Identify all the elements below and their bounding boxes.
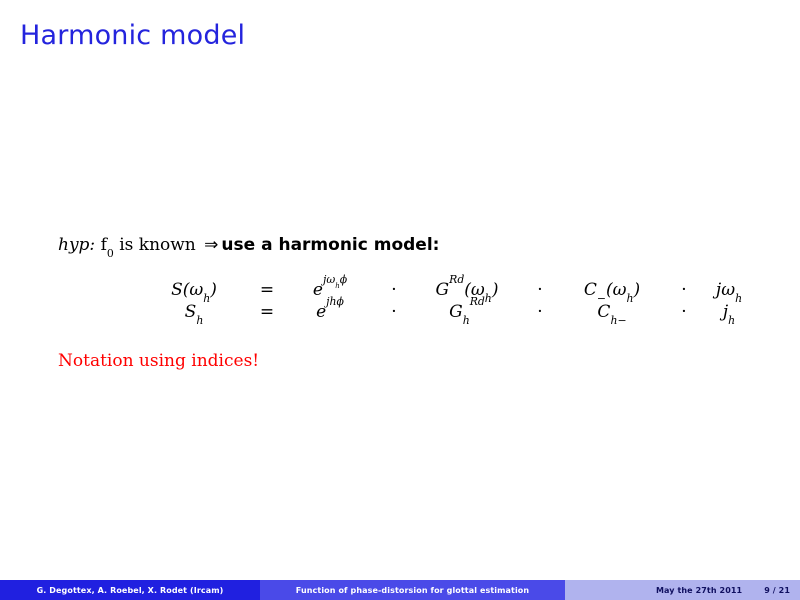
exp-sup-main: jω	[323, 273, 335, 286]
footer-presentation-title: Function of phase-distorsion for glottal…	[260, 580, 565, 600]
equation-lhs: S(ωh)	[148, 280, 250, 302]
footer-page-number: 9 / 21	[764, 586, 790, 595]
lhs-base: S	[171, 280, 183, 300]
g-superscript: Rd	[449, 273, 464, 286]
exp-superscript: jhϕ	[326, 295, 344, 308]
equation-block: S(ωh) = ejωhϕ · GRd(ωh) · C−(ωh) · jωh S…	[148, 280, 756, 324]
equation-row: Sh = ejhϕ · GhRd · Ch− · jh	[148, 302, 756, 324]
equation-relation: =	[250, 280, 284, 302]
lhs-arg-close: )	[210, 280, 217, 300]
c-base: C	[597, 302, 610, 322]
footer-meta: May the 27th 2011 9 / 21	[565, 580, 800, 600]
exp-base: e	[313, 280, 323, 300]
lhs-arg-open: (ω	[183, 280, 204, 300]
equation-table: S(ωh) = ejωhϕ · GRd(ωh) · C−(ωh) · jωh S…	[148, 280, 756, 324]
equation-g-term: GRd(ωh)	[412, 280, 522, 302]
lhs-subscript: h	[196, 314, 203, 327]
multiplication-dot: ·	[666, 302, 702, 324]
hypothesis-emphasis: use a harmonic model:	[221, 235, 439, 255]
exp-sup-subscript: h	[335, 282, 339, 290]
hypothesis-label: hyp:	[58, 235, 95, 255]
j-subscript: h	[735, 292, 742, 305]
g-arg-close: )	[492, 280, 499, 300]
c-arg-close: )	[634, 280, 641, 300]
exp-superscript: jωhϕ	[323, 273, 347, 286]
g-base: G	[449, 302, 463, 322]
exp-sup-phi: ϕ	[337, 295, 344, 308]
j-subscript: h	[728, 314, 735, 327]
equation-g-term: GhRd	[412, 302, 522, 324]
multiplication-dot: ·	[666, 280, 702, 302]
hypothesis-line: hyp: f0 is known ⇒use a harmonic model:	[58, 234, 439, 256]
hypothesis-middle-text: is known	[114, 235, 201, 255]
multiplication-dot: ·	[522, 302, 558, 324]
equation-c-term: C−(ωh)	[558, 280, 666, 302]
g-base: G	[436, 280, 450, 300]
c-base: C	[584, 280, 597, 300]
presentation-slide: Harmonic model hyp: f0 is known ⇒use a h…	[0, 0, 800, 600]
equation-row: S(ωh) = ejωhϕ · GRd(ωh) · C−(ωh) · jωh	[148, 280, 756, 302]
exp-sup-phi: ϕ	[340, 273, 347, 286]
c-subscript: −	[597, 292, 606, 305]
footer-authors: G. Degottex, A. Roebel, X. Rodet (Ircam)	[0, 580, 260, 600]
j-base: jω	[716, 280, 735, 300]
lhs-base: S	[185, 302, 197, 322]
implies-arrow-icon: ⇒	[201, 235, 221, 255]
f-zero-subscript: 0	[107, 247, 114, 260]
footer-date: May the 27th 2011	[656, 586, 742, 595]
c-arg-subscript: h	[626, 292, 633, 305]
equation-exponential-term: ejhϕ	[284, 302, 376, 324]
exp-base: e	[316, 302, 326, 322]
notation-note: Notation using indices!	[58, 350, 259, 372]
multiplication-dot: ·	[522, 280, 558, 302]
equation-relation: =	[250, 302, 284, 324]
exp-sup-main: jh	[326, 295, 336, 308]
f-zero-symbol: f	[101, 235, 107, 255]
multiplication-dot: ·	[376, 302, 412, 324]
equation-lhs: Sh	[148, 302, 250, 324]
equation-j-term: jh	[702, 302, 756, 324]
multiplication-dot: ·	[376, 280, 412, 302]
equation-j-term: jωh	[702, 280, 756, 302]
c-arg-open: (ω	[606, 280, 627, 300]
g-superscript: Rd	[470, 295, 485, 308]
slide-body: hyp: f0 is known ⇒use a harmonic model: …	[0, 0, 800, 560]
g-arg-subscript: h	[485, 292, 492, 305]
lhs-subscript: h	[203, 292, 210, 305]
equation-c-term: Ch−	[558, 302, 666, 324]
slide-footer: G. Degottex, A. Roebel, X. Rodet (Ircam)…	[0, 580, 800, 600]
c-subscript: h−	[610, 314, 626, 327]
g-subscript: h	[463, 314, 470, 327]
